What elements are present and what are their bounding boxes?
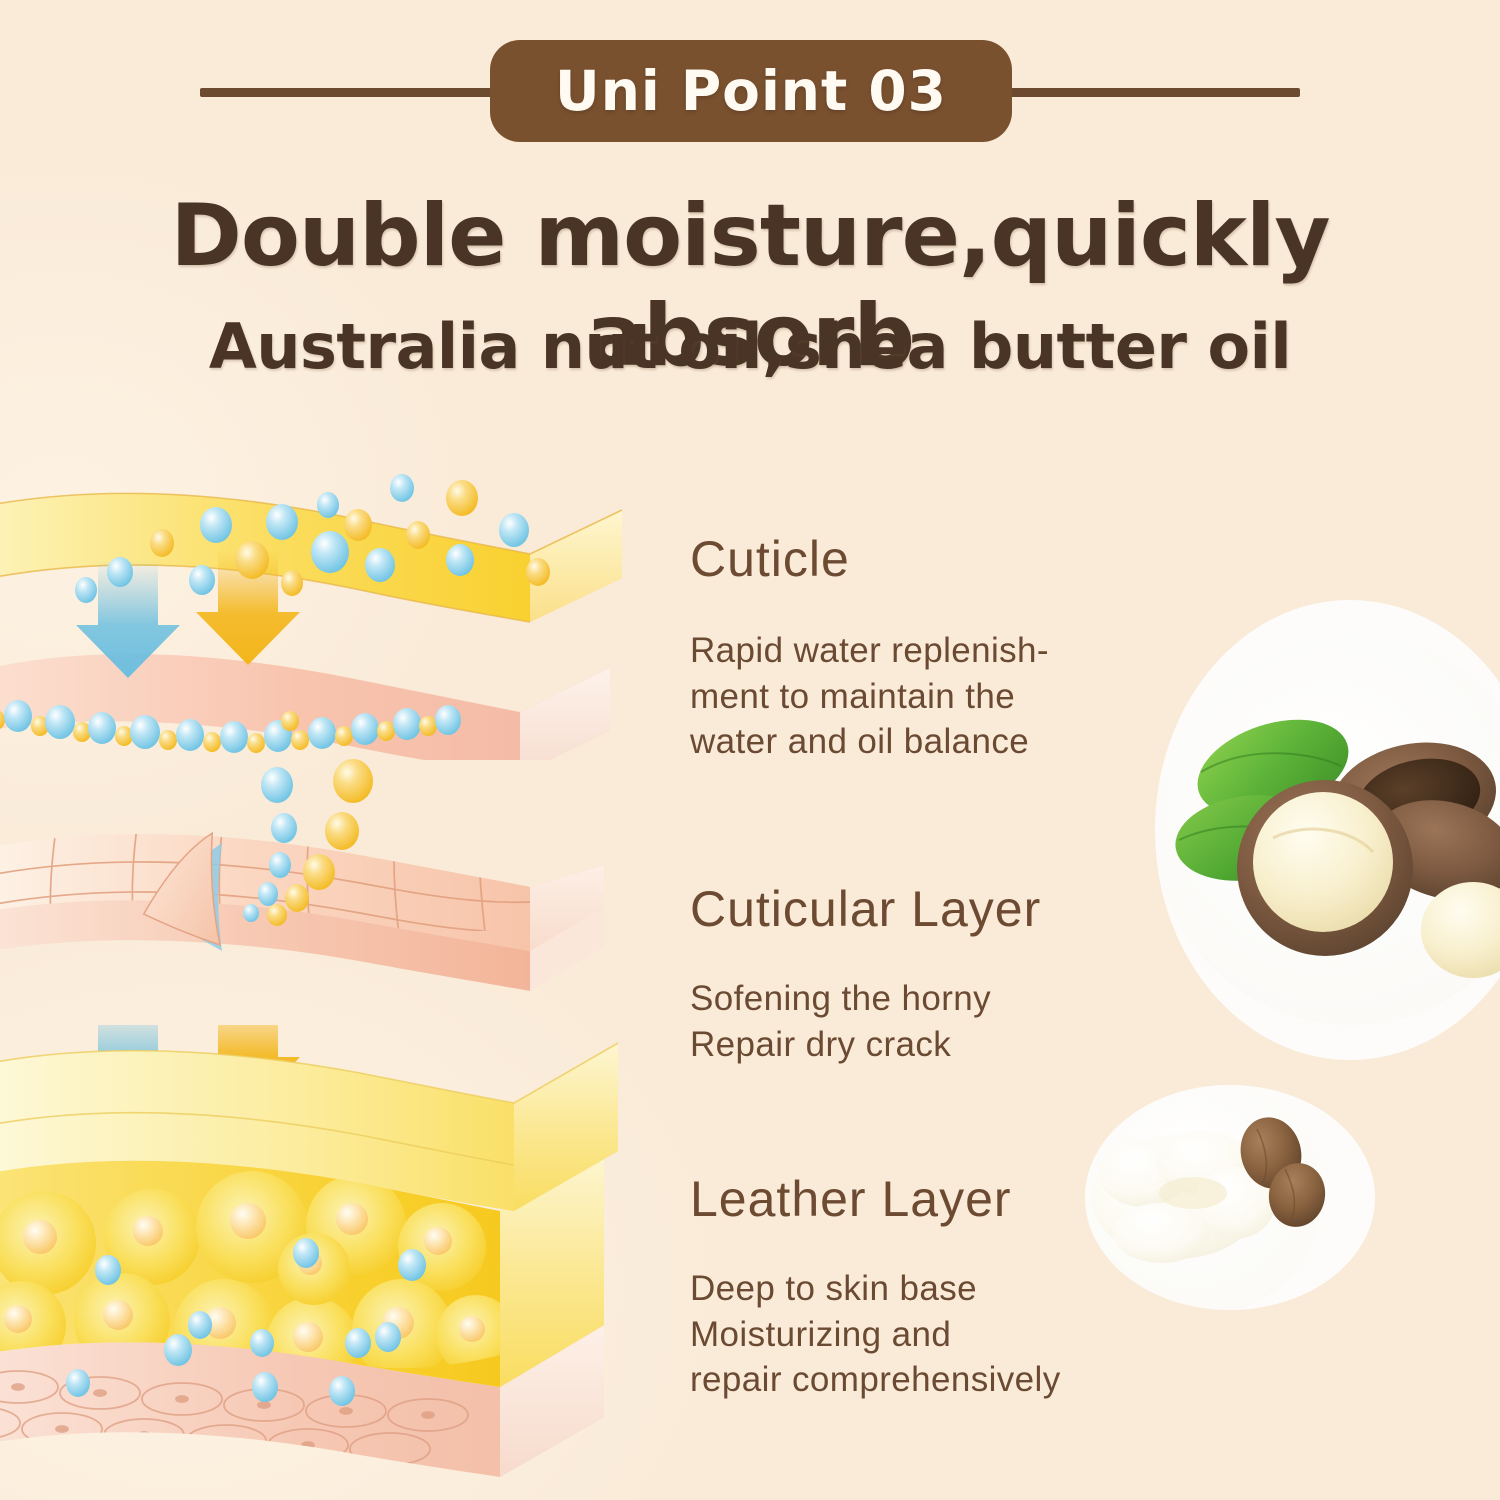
skin-cuticle-diagram [0, 430, 650, 760]
text-block-cuticle: Cuticle Rapid water replenish- ment to m… [690, 530, 1049, 765]
infographic-page: Uni Point 03 Double moisture,quickly abs… [0, 0, 1500, 1500]
text-block-cuticular: Cuticular Layer Sofening the horny Repai… [690, 880, 1041, 1067]
uni-point-badge: Uni Point 03 [490, 40, 1012, 142]
layer-title-cuticle: Cuticle [690, 530, 1049, 588]
macadamia-nut-photo [1155, 600, 1500, 1060]
uni-point-badge-label: Uni Point 03 [555, 59, 947, 123]
layer-description-cuticular: Sofening the horny Repair dry crack [690, 976, 1041, 1067]
layer-title-cuticular: Cuticular Layer [690, 880, 1041, 938]
page-subtitle: Australia nut oil,shea butter oil [0, 310, 1500, 383]
skin-cuticular-diagram [0, 755, 610, 1040]
skin-epidermis-slab [0, 493, 622, 622]
layer-description-leather: Deep to skin base Moisturizing and repai… [690, 1266, 1061, 1403]
layer-title-leather: Leather Layer [690, 1170, 1061, 1228]
skin-leather-diagram [0, 1025, 650, 1500]
shea-butter-photo [1085, 1085, 1375, 1310]
layer-description-cuticle: Rapid water replenish- ment to maintain … [690, 628, 1049, 765]
text-block-leather: Leather Layer Deep to skin base Moisturi… [690, 1170, 1061, 1403]
